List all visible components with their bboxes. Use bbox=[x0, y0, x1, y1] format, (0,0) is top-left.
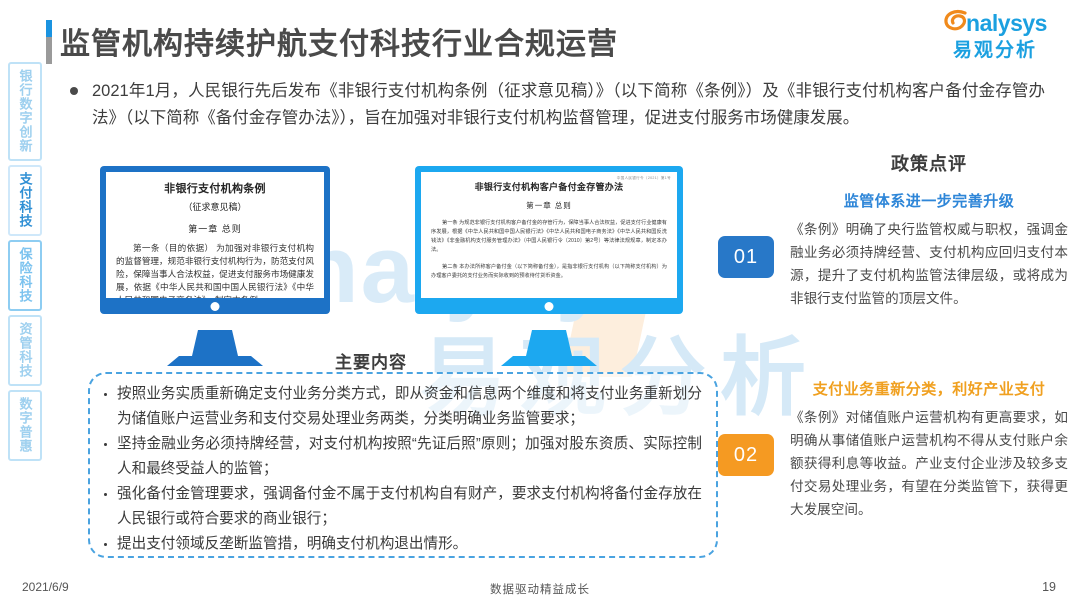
section-heading: 监管体系进一步完善升级 bbox=[790, 190, 1068, 211]
monitor-right-frame: 中国人民银行令〔2021〕第1号 非银行支付机构客户备付金存管办法 第一章 总则… bbox=[415, 166, 683, 314]
monitor-right-neck bbox=[526, 330, 572, 356]
document-body-2: 第二条 本办法所称客户备付金（以下简称备付金），是指非银行支付机构（以下简称支付… bbox=[431, 263, 667, 281]
main-content-box: 按照业务实质重新确定支付业务分类方式，即从资金和信息两个维度和将支付业务重新划分… bbox=[88, 372, 718, 558]
sidebar-item-insurance-tech[interactable]: 保险科技 bbox=[8, 240, 42, 311]
document-body-1: 第一条 为规范非银行支付机构客户备付金的存管行为，保障当事人合法权益，促进支付行… bbox=[431, 219, 667, 255]
document-title: 非银行支付机构条例 bbox=[116, 180, 314, 196]
sidebar-item-label: 银行数字创新 bbox=[18, 69, 33, 153]
title-accent-bar bbox=[46, 20, 52, 64]
slide-footer: 2021/6/9 数据驱动精益成长 19 bbox=[0, 574, 1080, 608]
section-body: 《条例》对储值账户运营机构有更高要求，如明确从事储值账户运营机构不得从支付账户余… bbox=[790, 406, 1068, 521]
policy-commentary-section-2: 支付业务重新分类，利好产业支付 《条例》对储值账户运营机构有更高要求，如明确从事… bbox=[790, 378, 1068, 521]
monitor-left-neck bbox=[192, 330, 238, 356]
slide-root: nalysys 易观分析 监管机构持续护航支付科技行业合规运营 nalysys … bbox=[0, 0, 1080, 608]
monitor-right-led-icon bbox=[545, 302, 554, 311]
sidebar-nav: 银行数字创新 支付科技 保险科技 资管科技 数字普惠 bbox=[8, 62, 44, 461]
sidebar-item-label: 支付科技 bbox=[18, 172, 33, 228]
document-custody-measures: 中国人民银行令〔2021〕第1号 非银行支付机构客户备付金存管办法 第一章 总则… bbox=[421, 172, 677, 289]
sidebar-item-label: 保险科技 bbox=[18, 247, 33, 303]
main-content-bullet: 坚持金融业务必须持牌经营，对支付机构按照“先证后照”原则；加强对股东资质、实际控… bbox=[102, 432, 702, 482]
sidebar-item-asset-management-tech[interactable]: 资管科技 bbox=[8, 315, 42, 386]
policy-commentary-section-1: 监管体系进一步完善升级 《条例》明确了央行监管权威与职权，强调金融业务必须持牌经… bbox=[790, 190, 1068, 310]
sidebar-item-digital-inclusive-finance[interactable]: 数字普惠 bbox=[8, 390, 42, 461]
document-chapter: 第一章 总则 bbox=[431, 200, 667, 211]
monitor-right-base bbox=[501, 356, 597, 366]
main-content-heading: 主要内容 bbox=[335, 348, 407, 373]
page-title: 监管机构持续护航支付科技行业合规运营 bbox=[60, 19, 618, 63]
brand-logo: nalysys 易观分析 bbox=[934, 8, 1056, 64]
sidebar-item-label: 资管科技 bbox=[18, 322, 33, 378]
footer-slogan: 数据驱动精益成长 bbox=[0, 581, 1080, 597]
sidebar-item-payment-tech[interactable]: 支付科技 bbox=[8, 165, 42, 236]
logo-text-en: nalysys bbox=[966, 12, 1047, 35]
footer-page-number: 19 bbox=[1042, 580, 1056, 594]
sidebar-item-bank-digital-innovation[interactable]: 银行数字创新 bbox=[8, 62, 42, 161]
lead-bullet-icon bbox=[70, 78, 92, 132]
policy-commentary-title: 政策点评 bbox=[790, 150, 1068, 176]
lead-paragraph-text: 2021年1月，人民银行先后发布《非银行支付机构条例（征求意见稿）》（以下简称《… bbox=[92, 78, 1045, 132]
document-chapter: 第一章 总则 bbox=[116, 222, 314, 235]
badge-02: 02 bbox=[718, 434, 774, 476]
document-regulation-draft: 非银行支付机构条例 （征求意见稿） 第一章 总则 第一条（目的依据） 为加强对非… bbox=[106, 172, 324, 298]
document-stamp: 中国人民银行令〔2021〕第1号 bbox=[617, 176, 671, 181]
badge-01: 01 bbox=[718, 236, 774, 278]
main-content-bullet: 提出支付领域反垄断监管措，明确支付机构退出情形。 bbox=[102, 532, 702, 557]
sidebar-item-label: 数字普惠 bbox=[18, 397, 33, 453]
main-content-bullet: 按照业务实质重新确定支付业务分类方式，即从资金和信息两个维度和将支付业务重新划分… bbox=[102, 382, 702, 432]
document-title: 非银行支付机构客户备付金存管办法 bbox=[431, 180, 667, 193]
document-subtitle: （征求意见稿） bbox=[116, 200, 314, 213]
monitor-left: 非银行支付机构条例 （征求意见稿） 第一章 总则 第一条（目的依据） 为加强对非… bbox=[100, 166, 330, 314]
section-heading: 支付业务重新分类，利好产业支付 bbox=[790, 378, 1068, 399]
monitor-left-led-icon bbox=[211, 302, 220, 311]
monitor-left-screen: 非银行支付机构条例 （征求意见稿） 第一章 总则 第一条（目的依据） 为加强对非… bbox=[106, 172, 324, 298]
section-body: 《条例》明确了央行监管权威与职权，强调金融业务必须持牌经营、支付机构应回归支付本… bbox=[790, 218, 1068, 310]
document-body: 第一条（目的依据） 为加强对非银行支付机构的监督管理，规范非银行支付机构行为，防… bbox=[116, 242, 314, 298]
lead-paragraph: 2021年1月，人民银行先后发布《非银行支付机构条例（征求意见稿）》（以下简称《… bbox=[70, 78, 1045, 132]
monitor-left-frame: 非银行支付机构条例 （征求意见稿） 第一章 总则 第一条（目的依据） 为加强对非… bbox=[100, 166, 330, 314]
monitor-right: 中国人民银行令〔2021〕第1号 非银行支付机构客户备付金存管办法 第一章 总则… bbox=[415, 166, 683, 314]
logo-text-cn: 易观分析 bbox=[934, 41, 1056, 60]
main-content-bullet: 强化备付金管理要求，强调备付金不属于支付机构自有财产，要求支付机构将备付金存放在… bbox=[102, 482, 702, 532]
monitor-left-base bbox=[167, 356, 263, 366]
monitor-right-screen: 中国人民银行令〔2021〕第1号 非银行支付机构客户备付金存管办法 第一章 总则… bbox=[421, 172, 677, 298]
